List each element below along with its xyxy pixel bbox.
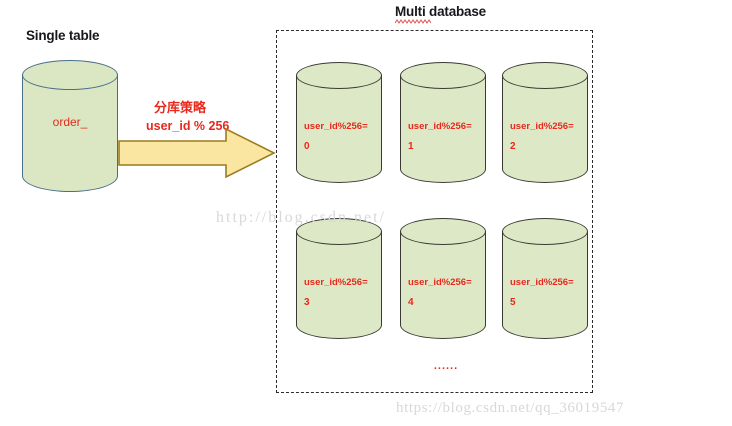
shard-label: user_id%256=	[510, 278, 574, 288]
single-table-title: Single table	[26, 28, 99, 43]
multi-database-title: Multi database	[395, 4, 486, 19]
shard-value: 4	[408, 297, 414, 308]
shard-cylinder: user_id%256= 3	[296, 218, 382, 352]
spellcheck-squiggle-icon	[395, 19, 431, 24]
shard-cylinder: user_id%256= 0	[296, 62, 382, 196]
shard-label: user_id%256=	[510, 122, 574, 132]
single-table-cylinder: order_	[22, 60, 118, 206]
shard-label: user_id%256=	[304, 122, 368, 132]
single-table-cylinder-label: order_	[22, 115, 118, 129]
shard-value: 5	[510, 297, 516, 308]
shard-cylinder: user_id%256= 4	[400, 218, 486, 352]
shard-value: 1	[408, 141, 414, 152]
shard-cylinder: user_id%256= 1	[400, 62, 486, 196]
shard-label: user_id%256=	[408, 278, 472, 288]
cylinder-top-ellipse	[296, 62, 382, 89]
watermark-bottom: https://blog.csdn.net/qq_36019547	[396, 400, 624, 417]
cylinder-top-ellipse	[400, 62, 486, 89]
shard-value: 0	[304, 141, 310, 152]
cylinder-top-ellipse	[502, 62, 588, 89]
sharding-strategy-label: 分库策略	[154, 97, 206, 116]
cylinder-body	[22, 74, 118, 192]
shard-cylinder: user_id%256= 5	[502, 218, 588, 352]
shard-value: 3	[304, 297, 310, 308]
cylinder-top-ellipse	[502, 218, 588, 245]
diagram-canvas: Single table order_ 分库策略 user_id % 256 M…	[0, 0, 732, 426]
shard-cylinder: user_id%256= 2	[502, 62, 588, 196]
cylinder-top-ellipse	[400, 218, 486, 245]
shard-ellipsis: ......	[416, 360, 476, 372]
shard-label: user_id%256=	[304, 278, 368, 288]
right-block-arrow-icon	[118, 127, 276, 179]
cylinder-top-ellipse	[296, 218, 382, 245]
shard-label: user_id%256=	[408, 122, 472, 132]
cylinder-top-ellipse	[22, 60, 118, 90]
shard-value: 2	[510, 141, 516, 152]
